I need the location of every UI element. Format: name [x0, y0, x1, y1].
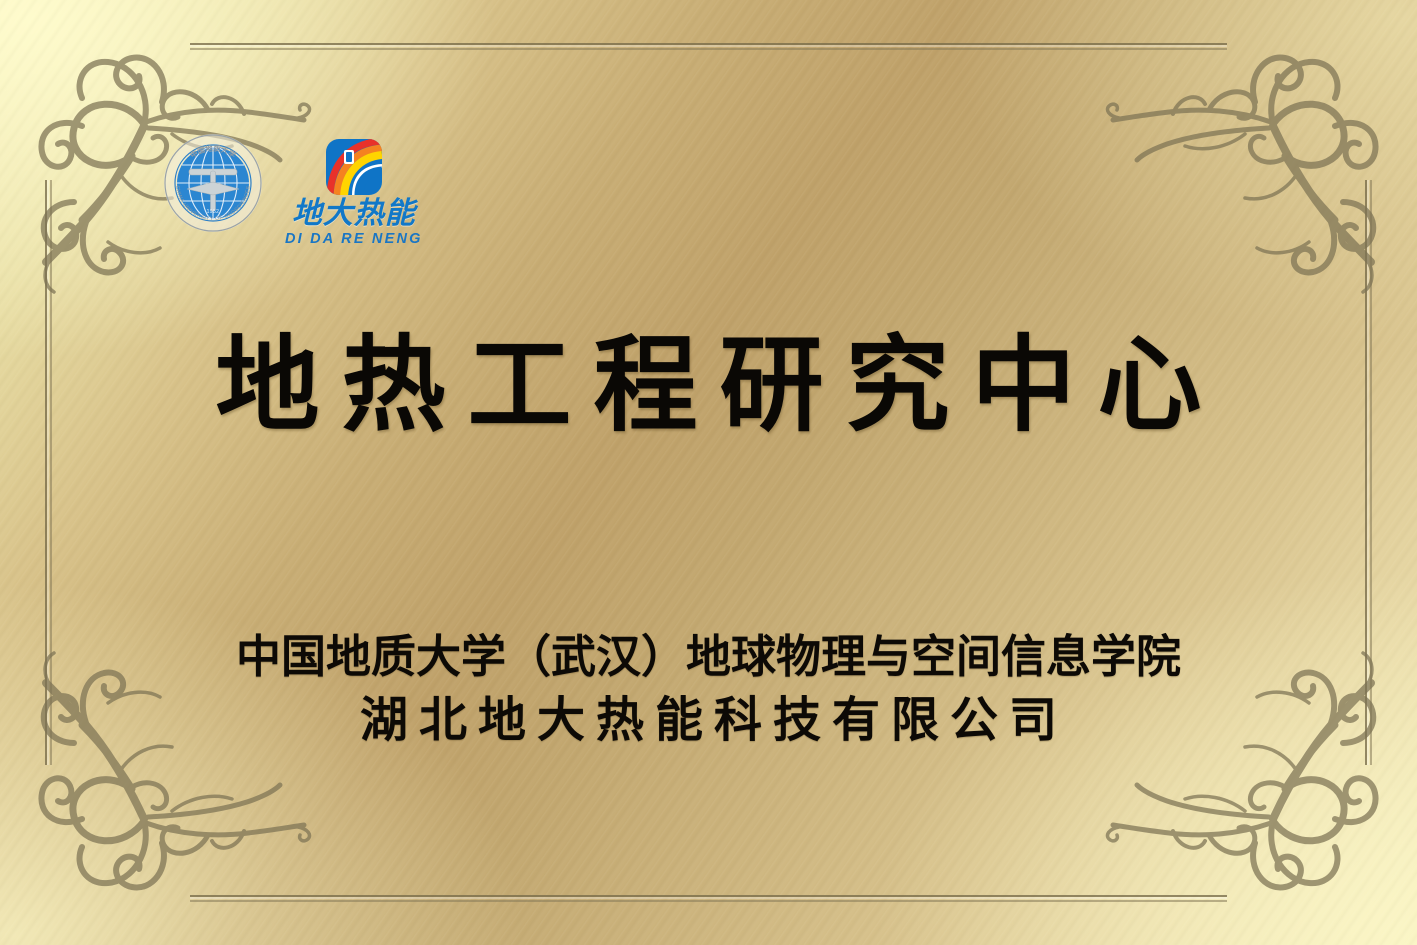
didareneng-logo: 地大热能 DI DA RE NENG: [285, 137, 423, 247]
didareneng-name-pinyin: DI DA RE NENG: [285, 232, 423, 247]
subtitle-line-company: 湖北地大热能科技有限公司: [0, 689, 1417, 751]
award-plaque: 1952 中国地质大学 CHINA UNIVERSITY OF GEOSCIEN…: [0, 0, 1417, 945]
plaque-subtitle-block: 中国地质大学（武汉）地球物理与空间信息学院 湖北地大热能科技有限公司: [0, 630, 1417, 751]
didareneng-name-cn: 地大热能: [292, 199, 416, 229]
plaque-title: 地热工程研究中心: [0, 330, 1417, 439]
didareneng-logo-icon: [324, 137, 384, 197]
border-rule-bottom: [0, 894, 1417, 903]
logo-row: 1952 中国地质大学 CHINA UNIVERSITY OF GEOSCIEN…: [163, 133, 423, 247]
cug-seal-icon: 1952 中国地质大学 CHINA UNIVERSITY OF GEOSCIEN…: [163, 133, 263, 233]
border-rule-right: [1364, 0, 1373, 945]
subtitle-line-university: 中国地质大学（武汉）地球物理与空间信息学院: [0, 630, 1417, 685]
border-rule-top: [0, 42, 1417, 51]
svg-text:1952: 1952: [207, 209, 220, 215]
border-rule-left: [44, 0, 53, 945]
